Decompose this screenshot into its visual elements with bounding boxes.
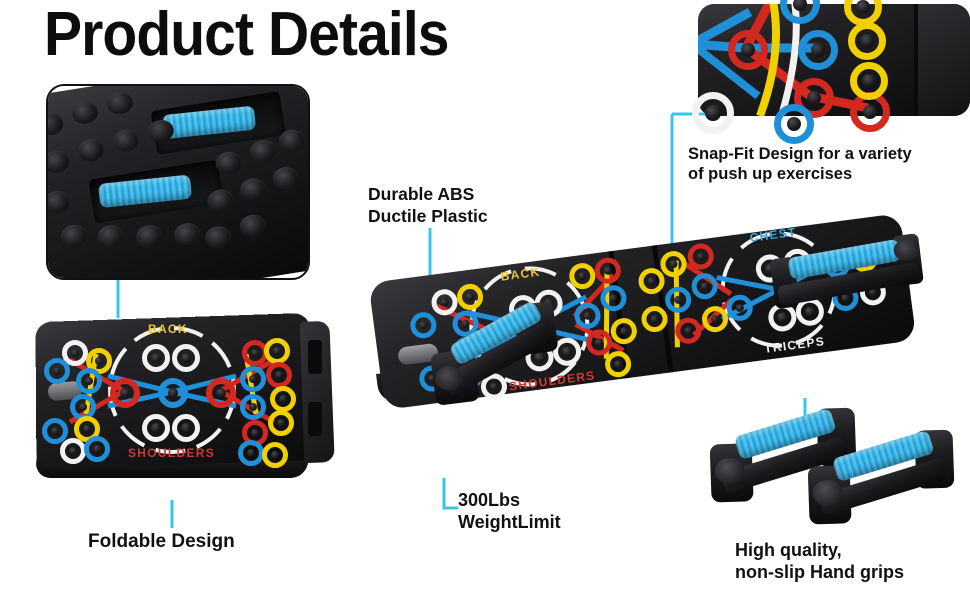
snapfit-ring [798, 30, 838, 70]
folded-board-open-face: BACK SHOULDERS [30, 310, 330, 490]
callout-snap-fit: Snap-Fit Design for a variety of push up… [688, 144, 912, 184]
snapfit-ring [850, 62, 888, 100]
snapfit-ring [728, 30, 768, 70]
muscle-label-shoulders: SHOULDERS [128, 446, 215, 460]
callout-weight-limit: 300Lbs WeightLimit [458, 490, 561, 534]
inset-folded-closed [46, 84, 310, 280]
macro-inset-snapfit [698, 4, 970, 116]
snapfit-ring [692, 92, 734, 134]
hand-grips-pair [700, 404, 940, 534]
installed-handle-left [417, 295, 577, 405]
snapfit-ring [848, 22, 886, 60]
page-title: Product Details [44, 4, 449, 66]
callout-hand-grips: High quality, non-slip Hand grips [735, 540, 904, 584]
hand-grip-2 [806, 425, 959, 526]
muscle-label-back: BACK [148, 322, 188, 336]
callout-durable-abs: Durable ABS Ductile Plastic [368, 184, 488, 227]
callout-foldable-design: Foldable Design [88, 531, 235, 554]
snapfit-ring [774, 104, 814, 144]
infographic-canvas: Product Details [0, 0, 970, 600]
